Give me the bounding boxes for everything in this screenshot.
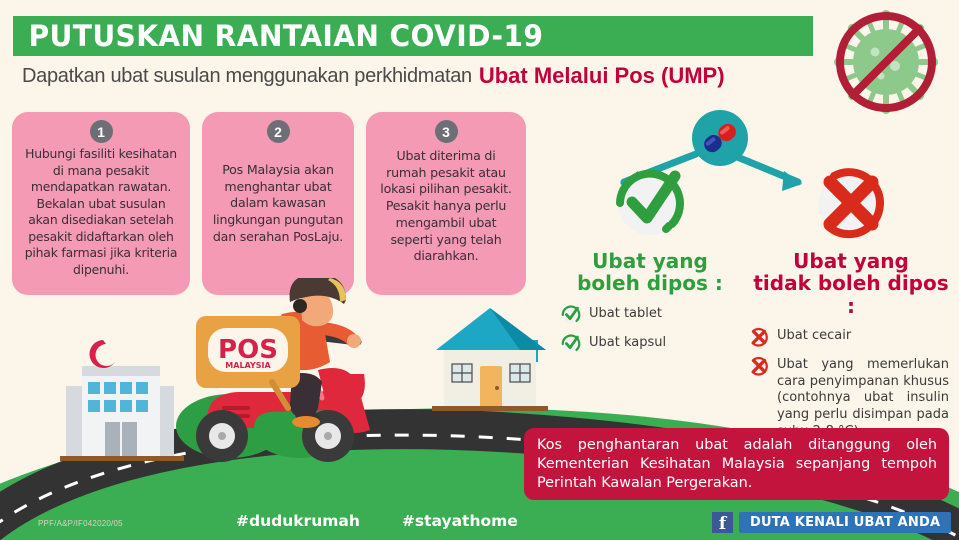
step-number-badge: 2 (267, 120, 290, 143)
delivery-scene-illustration: POS MALAYSIA (0, 278, 959, 540)
red-cross-circle-icon (748, 160, 954, 246)
step-card-2: 2 Pos Malaysia akan menghantar ubat dala… (202, 112, 354, 295)
facebook-icon[interactable]: f (712, 512, 733, 533)
header-title-bar: PUTUSKAN RANTAIAN COVID-19 (13, 16, 813, 56)
hashtags: #dudukrumah #stayathome (236, 512, 518, 530)
subtitle-highlight-text: Ubat Melalui Pos (UMP) (479, 63, 725, 89)
infographic-poster: PUTUSKAN RANTAIAN COVID-19 Dapatkan ubat… (0, 0, 959, 540)
step-card-1: 1 Hubungi fasiliti kesihatan di mana pes… (12, 112, 190, 295)
header-subtitle: Dapatkan ubat susulan menggunakan perkhi… (22, 60, 812, 92)
parcel-logo-sublabel: MALAYSIA (225, 361, 271, 370)
pos-malaysia-scooter-rider-icon: POS MALAYSIA (176, 278, 370, 462)
hashtag-dudukrumah: #dudukrumah (236, 512, 360, 530)
hashtag-stayathome: #stayathome (402, 512, 518, 530)
step-number-badge: 1 (90, 120, 113, 143)
delivery-cost-note: Kos penghantaran ubat adalah ditanggung … (524, 428, 949, 500)
step-text: Hubungi fasiliti kesihatan di mana pesak… (21, 146, 181, 278)
no-covid-virus-icon (825, 6, 947, 118)
facebook-page-label[interactable]: DUTA KENALI UBAT ANDA (739, 512, 951, 533)
step-card-3: 3 Ubat diterima di rumah pesakit atau lo… (366, 112, 526, 295)
green-check-circle-icon (560, 160, 740, 246)
subtitle-normal-text: Dapatkan ubat susulan menggunakan perkhi… (22, 65, 472, 88)
not-allowed-title-line1: Ubat yang (748, 250, 954, 272)
facebook-link[interactable]: f DUTA KENALI UBAT ANDA (712, 512, 951, 533)
delivery-cost-note-text: Kos penghantaran ubat adalah ditanggung … (537, 436, 937, 493)
reference-code: PPF/A&P/IF042020/05 (38, 519, 123, 528)
step-text: Ubat diterima di rumah pesakit atau loka… (375, 148, 517, 265)
hospital-building-icon (60, 340, 184, 461)
step-text: Pos Malaysia akan menghantar ubat dalam … (211, 162, 345, 246)
step-number-badge: 3 (435, 120, 458, 143)
page-title: PUTUSKAN RANTAIAN COVID-19 (13, 19, 543, 53)
house-icon (432, 308, 548, 411)
allowed-title-line1: Ubat yang (560, 250, 740, 272)
